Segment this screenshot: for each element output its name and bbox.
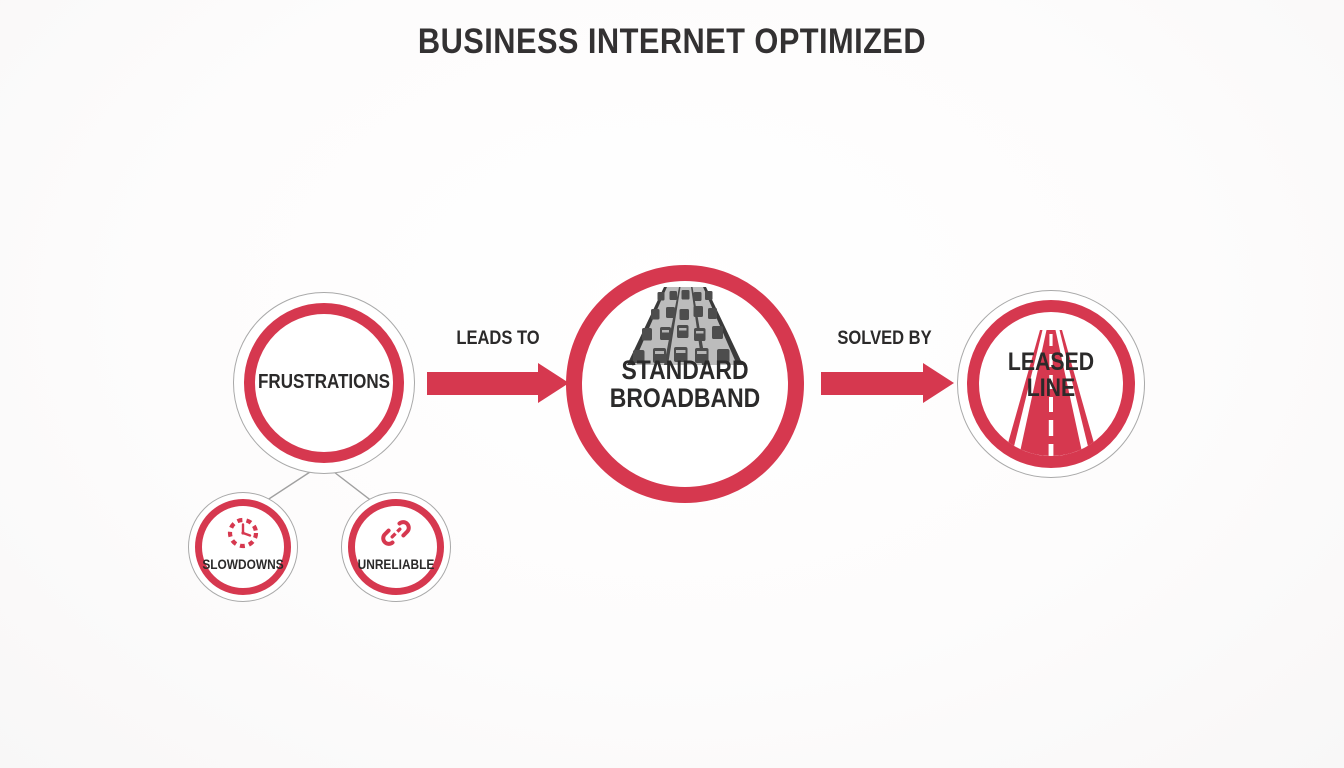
arrow-shaft [821, 372, 923, 395]
broken-chain-link-icon [379, 516, 413, 550]
subnode-unreliable-label: UNRELIABLE [349, 557, 443, 571]
congested-highway-icon [627, 287, 743, 365]
arrow-head [538, 363, 569, 403]
subnode-unreliable[interactable]: UNRELIABLE [341, 492, 451, 602]
node-frustrations[interactable]: FRUSTRATIONS [233, 292, 415, 474]
connector-label-solved-by: SOLVED BY [827, 328, 943, 350]
node-frustrations-label: FRUSTRATIONS [247, 372, 402, 392]
node-standard-broadband[interactable]: STANDARD BROADBAND [566, 265, 804, 503]
node-standard-broadband-label: STANDARD BROADBAND [584, 357, 786, 412]
page-title: BUSINESS INTERNET OPTIMIZED [81, 22, 1264, 62]
subnode-slowdowns-label: SLOWDOWNS [196, 557, 290, 571]
node-label-line-2: BROADBAND [584, 385, 786, 413]
node-label-line-1: STANDARD [584, 357, 786, 385]
node-label-line-2: LINE [971, 376, 1131, 402]
dashed-clock-icon [226, 516, 260, 550]
arrow-solved-by [821, 372, 954, 395]
arrow-leads-to [427, 372, 569, 395]
arrow-head [923, 363, 954, 403]
connector-label-leads-to: LEADS TO [436, 328, 560, 350]
arrow-shaft [427, 372, 538, 395]
subnode-slowdowns[interactable]: SLOWDOWNS [188, 492, 298, 602]
node-leased-line[interactable]: LEASED LINE [957, 290, 1145, 478]
node-label-line-1: LEASED [971, 350, 1131, 376]
diagram-canvas: BUSINESS INTERNET OPTIMIZED FRUSTRATIONS… [0, 0, 1344, 768]
node-leased-line-label: LEASED LINE [971, 350, 1131, 401]
